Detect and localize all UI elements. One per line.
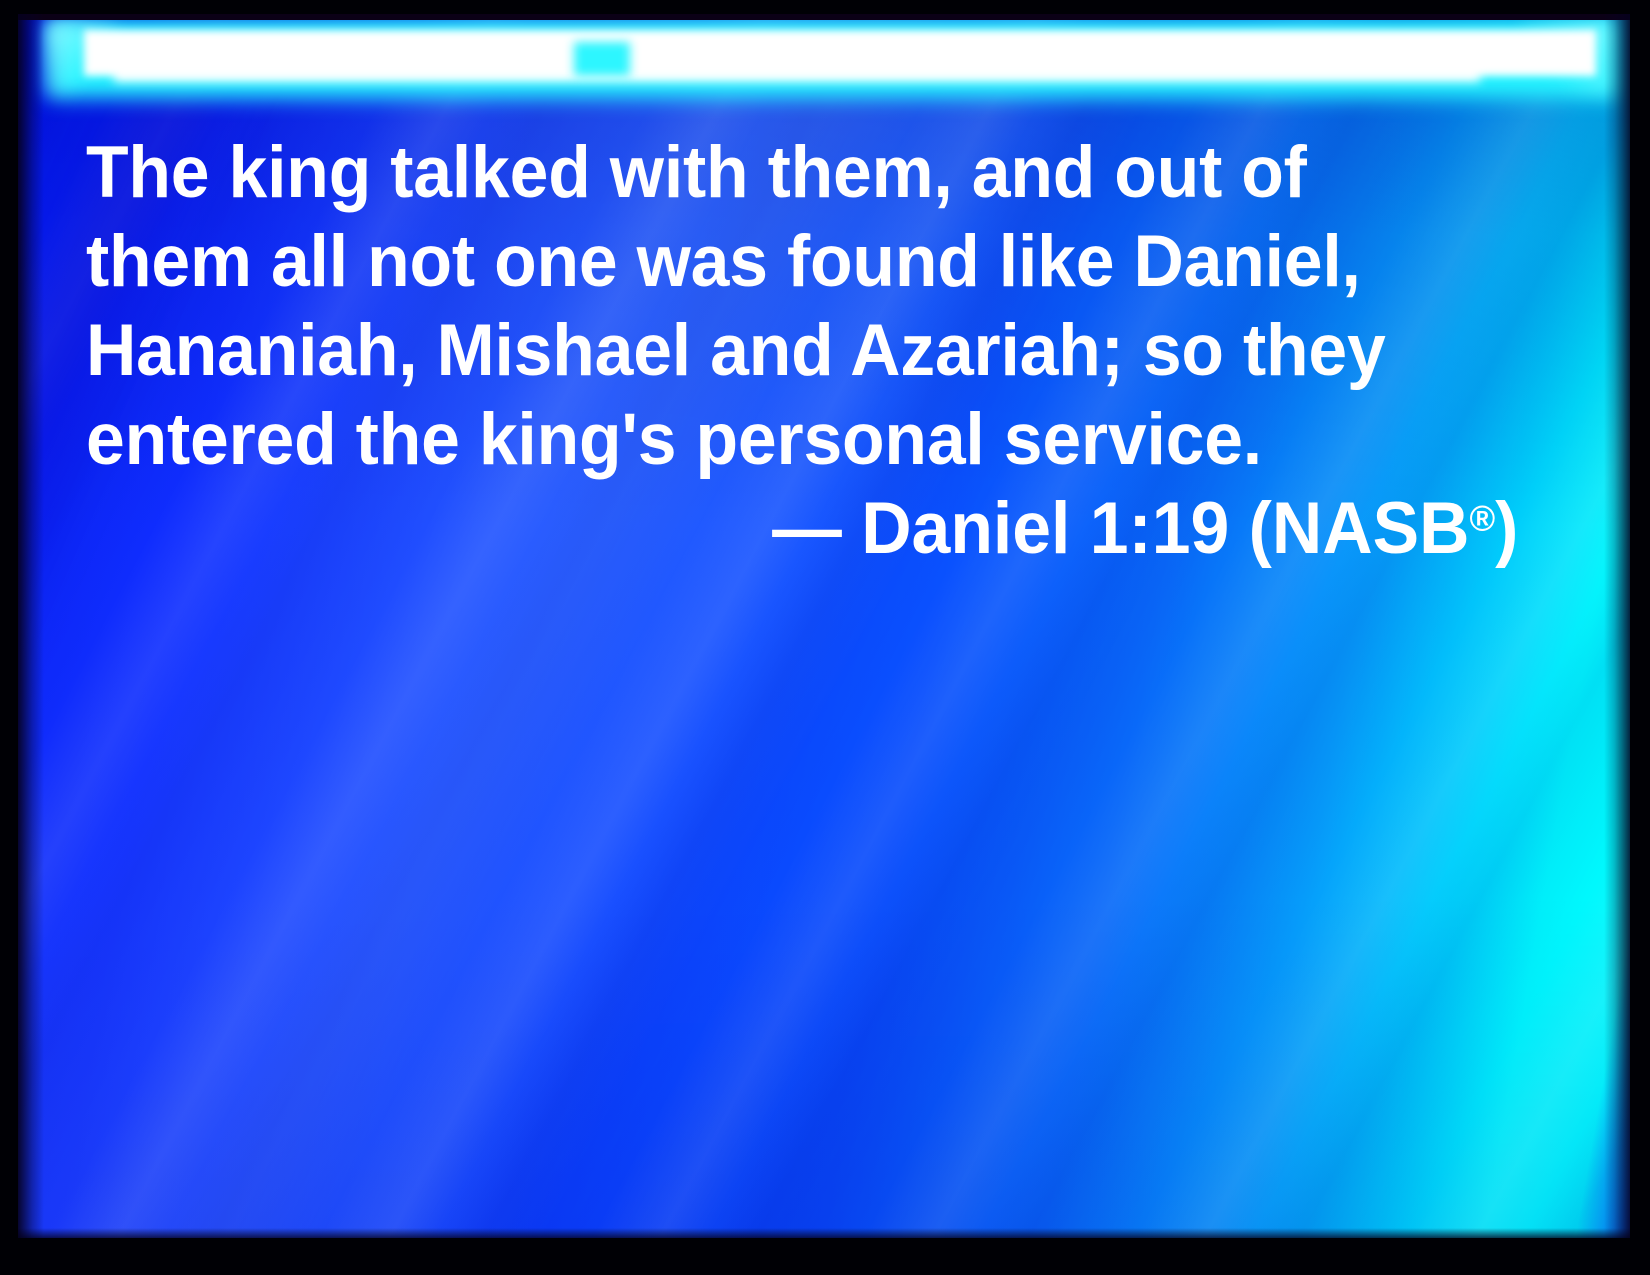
verse-body-text: The king talked with them, and out of th… [86, 128, 1461, 484]
verse-slide: The king talked with them, and out of th… [0, 0, 1650, 1275]
verse-reference: — Daniel 1:19 (NASB®) [151, 484, 1526, 573]
verse-text-block: The king talked with them, and out of th… [86, 128, 1526, 573]
verse-reference-prefix: — Daniel 1:19 (NASB [772, 488, 1469, 569]
verse-reference-suffix: ) [1495, 488, 1518, 569]
slide-picture-area: The king talked with them, and out of th… [18, 14, 1630, 1238]
top-frame-hairline [18, 14, 1630, 20]
registered-trademark-icon: ® [1469, 497, 1495, 538]
